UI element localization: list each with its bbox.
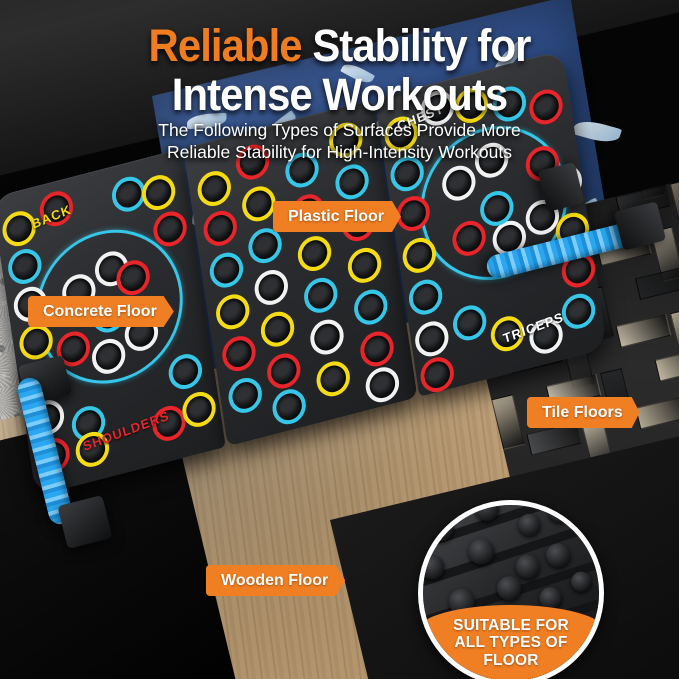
headline-highlight-word: Reliable (149, 20, 302, 71)
headline-line-1: Reliable Stability for (24, 24, 655, 68)
subheadline-line-1: The Following Types of Surfaces Provide … (0, 119, 679, 141)
callout-concrete-floor-label: Concrete Floor (43, 303, 157, 321)
rubber-foot (514, 553, 542, 581)
callout-plastic-floor: Plastic Floor (273, 201, 401, 232)
inset-banner: SUITABLE FOR ALL TYPES OF FLOOR (418, 605, 604, 679)
subheadline: The Following Types of Surfaces Provide … (0, 119, 679, 163)
detail-inset-circle: SUITABLE FOR ALL TYPES OF FLOOR (418, 500, 604, 679)
headline-line-2: Intense Workouts (24, 73, 655, 117)
inset-banner-line-2: ALL TYPES OF (423, 634, 599, 651)
callout-tile-floors-label: Tile Floors (542, 404, 623, 422)
product-infographic: BACKSHOULDERSCHESTTRICEPS Reliable Stabi… (0, 0, 679, 679)
subheadline-line-2: Reliable Stability for High-Intensity Wo… (0, 141, 679, 163)
callout-tile-floors: Tile Floors (527, 397, 640, 428)
callout-wooden-floor: Wooden Floor (206, 565, 345, 596)
headline: Reliable Stability for Intense Workouts (0, 24, 679, 117)
handle-foot-left (57, 495, 112, 549)
inset-banner-line-3: FLOOR (423, 652, 599, 669)
inset-banner-line-1: SUITABLE FOR (423, 617, 599, 634)
callout-wooden-floor-label: Wooden Floor (221, 572, 328, 590)
headline-line-1-rest: Stability for (312, 20, 530, 71)
callout-plastic-floor-label: Plastic Floor (288, 208, 384, 226)
handle-foot-right (614, 201, 666, 250)
callout-concrete-floor: Concrete Floor (28, 296, 174, 327)
